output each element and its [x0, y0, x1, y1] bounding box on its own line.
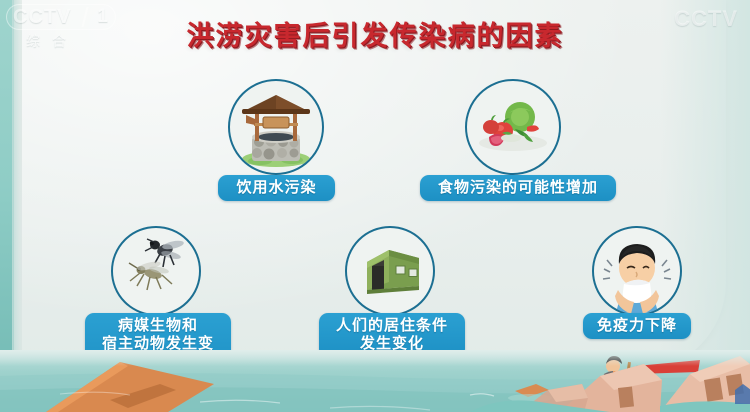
flood-scene [0, 350, 750, 412]
broadcast-frame: CCTV 1 综合 CCTV 洪涝灾害后引发传染病的因素 [0, 0, 750, 412]
sneezing-person-icon [592, 226, 682, 316]
fly-mosquito-icon [111, 226, 201, 316]
tent-icon [345, 226, 435, 316]
item-label-food-contamination: 食物污染的可能性增加 [420, 175, 616, 201]
vegetables-food-icon [465, 79, 561, 175]
water-well-icon [228, 79, 324, 175]
flood-haze [0, 350, 750, 366]
page-title: 洪涝灾害后引发传染病的因素 [0, 14, 750, 53]
item-label-drinking-water: 饮用水污染 [218, 175, 335, 201]
item-label-immunity-decline: 免疫力下降 [583, 313, 691, 339]
